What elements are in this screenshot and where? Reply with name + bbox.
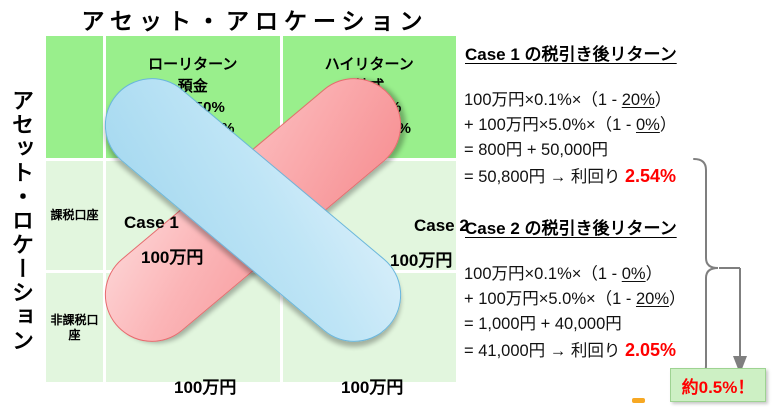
case-1-formula-line-3: = 800円 + 50,000円	[464, 138, 676, 163]
case-1-line1-tax-rate: 20%	[622, 91, 655, 109]
case-1-formula-line-2: + 100万円×5.0%×（1 - 0%）	[464, 113, 676, 138]
col1-allocation: 配分 50%	[148, 97, 237, 118]
row-label-taxfree-account: 非課税口座	[46, 273, 103, 382]
case-2-line4-pre: = 41,000円 → 利回り	[464, 342, 625, 360]
case-2-formula-line-1: 100万円×0.1%×（1 - 0%）	[464, 262, 686, 287]
case-2-line1-pre: 100万円×0.1%×（1 -	[464, 265, 622, 283]
col1-return-type: ローリターン	[148, 54, 237, 75]
grid-corner-cell	[46, 36, 103, 158]
column-header-high-return: ハイリターン 株式 配分 50% 利回り 5.0%	[283, 36, 457, 158]
case-2-formula-line-2: + 100万円×5.0%×（1 - 20%）	[464, 287, 686, 312]
col2-return-type: ハイリターン	[325, 54, 414, 75]
vertical-axis-label: アセット・ロケーション	[2, 38, 40, 404]
case-1-net-yield: 2.54%	[625, 166, 676, 186]
case-1-formula-block: 100万円×0.1%×（1 - 20%） + 100万円×5.0%×（1 - 0…	[464, 88, 676, 191]
case-2-line2-tax-rate: 20%	[636, 290, 669, 308]
row-label-taxfree-text: 非課税口座	[46, 313, 103, 343]
page-title: アセット・アロケーション	[44, 2, 460, 36]
asset-allocation-diagram: アセット・アロケーション アセット・ロケーション ローリターン 預金 配分 50…	[0, 0, 460, 407]
case-2-formula-line-4: = 41,000円 → 利回り 2.05%	[464, 337, 686, 364]
difference-bracket-arrow	[692, 150, 781, 385]
case-1-line2-pre: + 100万円×5.0%×（1 -	[464, 116, 636, 134]
case-2-line2-post: ）	[669, 290, 686, 308]
case-2-net-yield: 2.05%	[625, 340, 676, 360]
case-2-formula-block: 100万円×0.1%×（1 - 0%） + 100万円×5.0%×（1 - 20…	[464, 262, 686, 365]
allocation-grid: ローリターン 預金 配分 50% 利回り 0.1% ハイリターン 株式 配分 5…	[46, 36, 456, 382]
col2-yield: 利回り 5.0%	[325, 118, 414, 139]
case-1-line1-post: ）	[655, 91, 672, 109]
orange-marker	[632, 398, 645, 403]
callout-text: 約0.5%！	[682, 373, 755, 398]
col1-asset: 預金	[148, 76, 237, 97]
case-1-line2-tax-rate: 0%	[636, 116, 660, 134]
case-1-line4-pre: = 50,800円 → 利回り	[464, 168, 625, 186]
col1-yield: 利回り 0.1%	[148, 118, 237, 139]
cell-taxable-stock	[283, 161, 457, 270]
row-label-taxable-text: 課税口座	[50, 208, 98, 223]
case-2-heading: Case 2 の税引き後リターン	[465, 214, 677, 239]
case-1-line2-post: ）	[660, 116, 677, 134]
row-label-taxable-account: 課税口座	[46, 161, 103, 270]
col2-asset: 株式	[325, 76, 414, 97]
cell-taxfree-deposit	[106, 273, 280, 382]
case-2-line1-tax-rate: 0%	[622, 265, 646, 283]
col2-allocation: 配分 50%	[325, 97, 414, 118]
case-2-line1-post: ）	[646, 265, 663, 283]
case-1-line1-pre: 100万円×0.1%×（1 -	[464, 91, 622, 109]
case-1-formula-line-1: 100万円×0.1%×（1 - 20%）	[464, 88, 676, 113]
calculation-panel: Case 1 の税引き後リターン 100万円×0.1%×（1 - 20%） + …	[460, 0, 781, 407]
cell-taxable-deposit	[106, 161, 280, 270]
case-1-heading: Case 1 の税引き後リターン	[465, 40, 677, 65]
case-2-line2-pre: + 100万円×5.0%×（1 -	[464, 290, 636, 308]
column-header-low-return: ローリターン 預金 配分 50% 利回り 0.1%	[106, 36, 280, 158]
case-2-formula-line-3: = 1,000円 + 40,000円	[464, 312, 686, 337]
difference-callout-badge: 約0.5%！	[670, 368, 766, 402]
cell-taxfree-stock	[283, 273, 457, 382]
case-1-formula-line-4: = 50,800円 → 利回り 2.54%	[464, 163, 676, 190]
curly-bracket-icon	[694, 159, 718, 376]
